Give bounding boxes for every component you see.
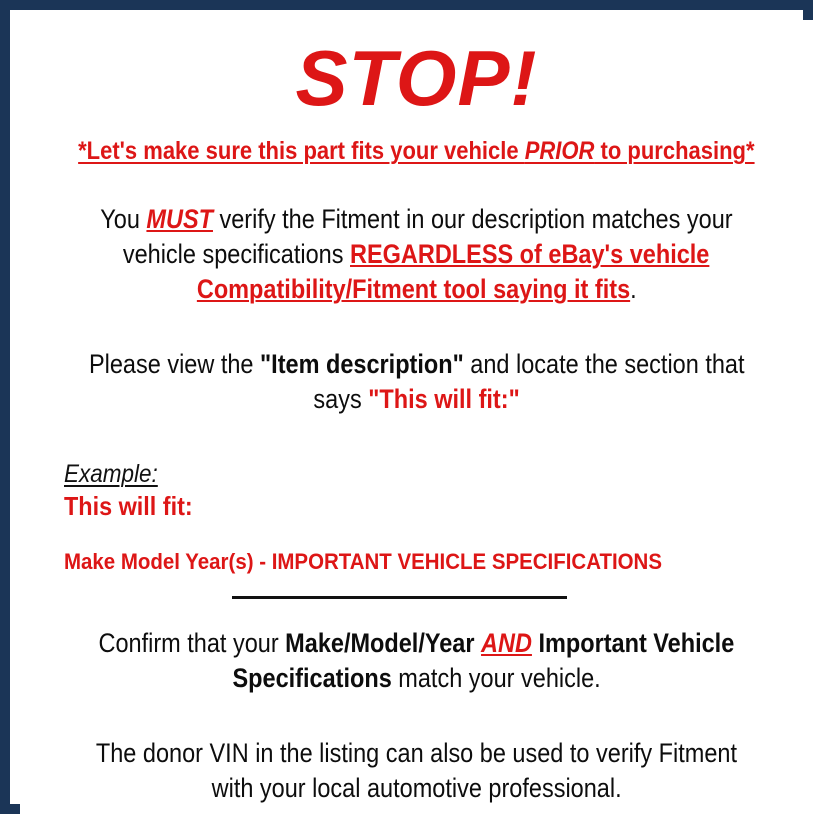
must-line2-text-a: vehicle specifications: [123, 239, 350, 269]
divider-wrap: [20, 576, 813, 612]
tagline-inner: *Let's make sure this part fits your veh…: [78, 136, 754, 166]
tagline-emphasis-prior: PRIOR: [525, 137, 595, 165]
view-line2-text-a: says: [313, 384, 368, 414]
vin-line-1: The donor VIN in the listing can also be…: [37, 736, 797, 771]
confirm-paragraph: Confirm that your Make/Model/Year AND Im…: [37, 612, 797, 696]
horizontal-divider: [232, 596, 567, 599]
regardless-emphasis: REGARDLESS of eBay's vehicle: [350, 239, 709, 269]
confirm-line1-text-a: Confirm that your: [99, 628, 286, 658]
item-description-paragraph: Please view the "Item description" and l…: [37, 307, 797, 417]
compatibility-emphasis: Compatibility/Fitment tool saying it fit…: [197, 274, 630, 304]
confirm-line2-text-b: match your vehicle.: [392, 663, 601, 693]
tagline: *Let's make sure this part fits your veh…: [20, 122, 813, 166]
vin-line-2: with your local automotive professional.: [37, 771, 797, 806]
must-line-3: Compatibility/Fitment tool saying it fit…: [37, 272, 797, 307]
confirm-line-1: Confirm that your Make/Model/Year AND Im…: [37, 626, 797, 661]
item-description-label: "Item description": [260, 349, 464, 379]
notice-border-frame: STOP! *Let's make sure this part fits yo…: [0, 0, 813, 814]
tagline-text-part1: *Let's make sure this part fits your veh…: [78, 137, 525, 165]
must-verify-paragraph: You MUST verify the Fitment in our descr…: [37, 166, 797, 307]
example-spec-line: Make Model Year(s) - IMPORTANT VEHICLE S…: [64, 548, 761, 576]
vin-line2-text: with your local automotive professional.: [212, 773, 622, 803]
confirm-line-2: Specifications match your vehicle.: [37, 661, 797, 696]
and-emphasis: AND: [481, 628, 532, 658]
specifications-label: Specifications: [232, 663, 391, 693]
closing-thanks: Thank you for confirming Fitment!: [20, 806, 813, 814]
make-model-year-label: Make/Model/Year: [285, 628, 474, 658]
fitment-notice-image: STOP! *Let's make sure this part fits yo…: [0, 0, 813, 814]
example-label: Example:: [64, 459, 158, 489]
must-line-1: You MUST verify the Fitment in our descr…: [37, 202, 797, 237]
important-vehicle-label: Important Vehicle: [532, 628, 734, 658]
must-emphasis: MUST: [146, 204, 213, 234]
example-block: Example: This will fit: Make Model Year(…: [20, 417, 813, 576]
notice-content: STOP! *Let's make sure this part fits yo…: [20, 20, 813, 814]
stop-heading: STOP!: [20, 20, 813, 122]
view-line1-text-b: and locate the section that: [463, 349, 744, 379]
must-line3-period: .: [630, 274, 637, 304]
tagline-text-part2: to purchasing*: [595, 137, 755, 165]
must-line1-text-a: You: [100, 204, 146, 234]
must-line1-text-b: verify the Fitment in our description ma…: [213, 204, 733, 234]
view-line1-text-a: Please view the: [89, 349, 260, 379]
vin-line1-text: The donor VIN in the listing can also be…: [96, 738, 737, 768]
this-will-fit-quote: "This will fit:": [368, 384, 519, 414]
must-line-2: vehicle specifications REGARDLESS of eBa…: [37, 237, 797, 272]
donor-vin-paragraph: The donor VIN in the listing can also be…: [37, 696, 797, 806]
example-fit-heading: This will fit:: [64, 490, 738, 522]
view-line-1: Please view the "Item description" and l…: [37, 347, 797, 382]
view-line-2: says "This will fit:": [37, 382, 797, 417]
